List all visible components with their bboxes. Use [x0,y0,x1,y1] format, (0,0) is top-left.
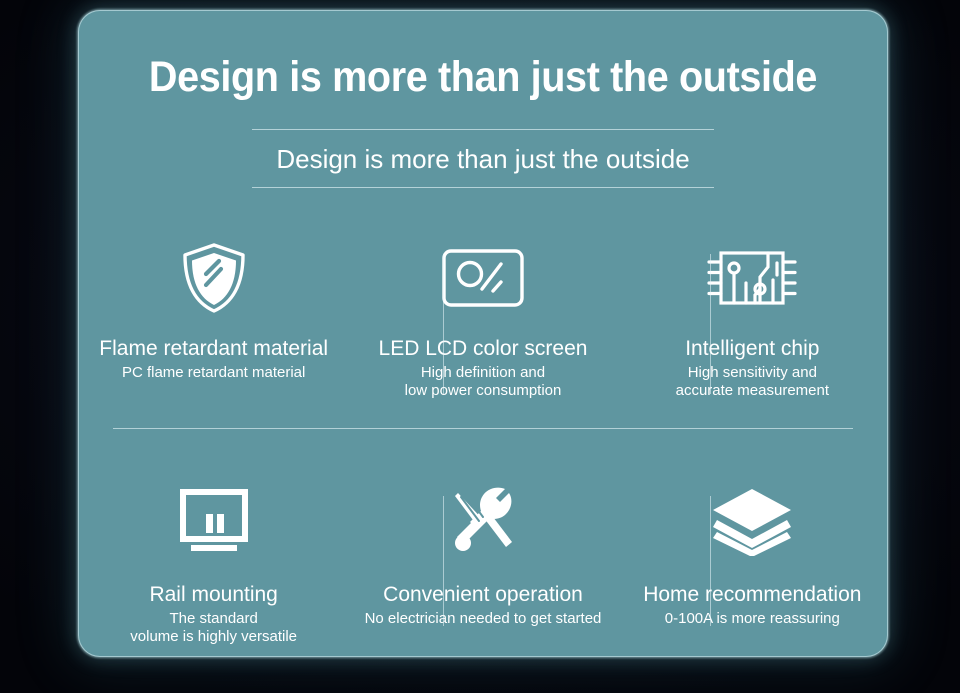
column-divider [443,496,444,626]
tools-icon [446,481,520,561]
feature-title: LED LCD color screen [379,337,588,361]
row-divider [113,428,853,429]
feature-title: Flame retardant material [99,337,328,361]
feature-lcd-screen[interactable]: LED LCD color screen High definition and… [348,239,617,419]
feature-convenient-operation[interactable]: Convenient operation No electrician need… [348,481,617,656]
column-divider [710,496,711,626]
chip-icon [700,239,804,317]
shield-icon [179,239,249,317]
feature-desc: High sensitivity and accurate measuremen… [676,364,829,401]
feature-row-bottom: Rail mounting The standard volume is hig… [79,481,887,656]
feature-title: Intelligent chip [685,337,819,361]
subtitle-block: Design is more than just the outside [252,129,714,188]
layers-icon [708,481,796,561]
column-divider [710,254,711,394]
page-title: Design is more than just the outside [111,53,854,102]
feature-intelligent-chip[interactable]: Intelligent chip High sensitivity and ac… [618,239,887,419]
feature-home-recommendation[interactable]: Home recommendation 0-100A is more reass… [618,481,887,656]
subtitle-rule-bottom [252,187,714,188]
page-subtitle: Design is more than just the outside [252,130,714,187]
feature-flame-retardant[interactable]: Flame retardant material PC flame retard… [79,239,348,419]
feature-title: Home recommendation [643,583,861,607]
feature-desc: No electrician needed to get started [365,610,602,628]
feature-desc: 0-100A is more reassuring [665,610,840,628]
feature-row-top: Flame retardant material PC flame retard… [79,239,887,419]
feature-title: Convenient operation [383,583,583,607]
column-divider [443,254,444,394]
feature-title: Rail mounting [149,583,277,607]
feature-desc: High definition and low power consumptio… [405,364,562,401]
feature-desc: PC flame retardant material [122,364,305,382]
feature-card: Design is more than just the outside Des… [78,10,888,657]
rail-mount-icon [179,481,249,561]
lcd-screen-icon [441,239,525,317]
page-root: Design is more than just the outside Des… [0,0,960,693]
feature-desc: The standard volume is highly versatile [130,610,297,647]
feature-rail-mounting[interactable]: Rail mounting The standard volume is hig… [79,481,348,656]
